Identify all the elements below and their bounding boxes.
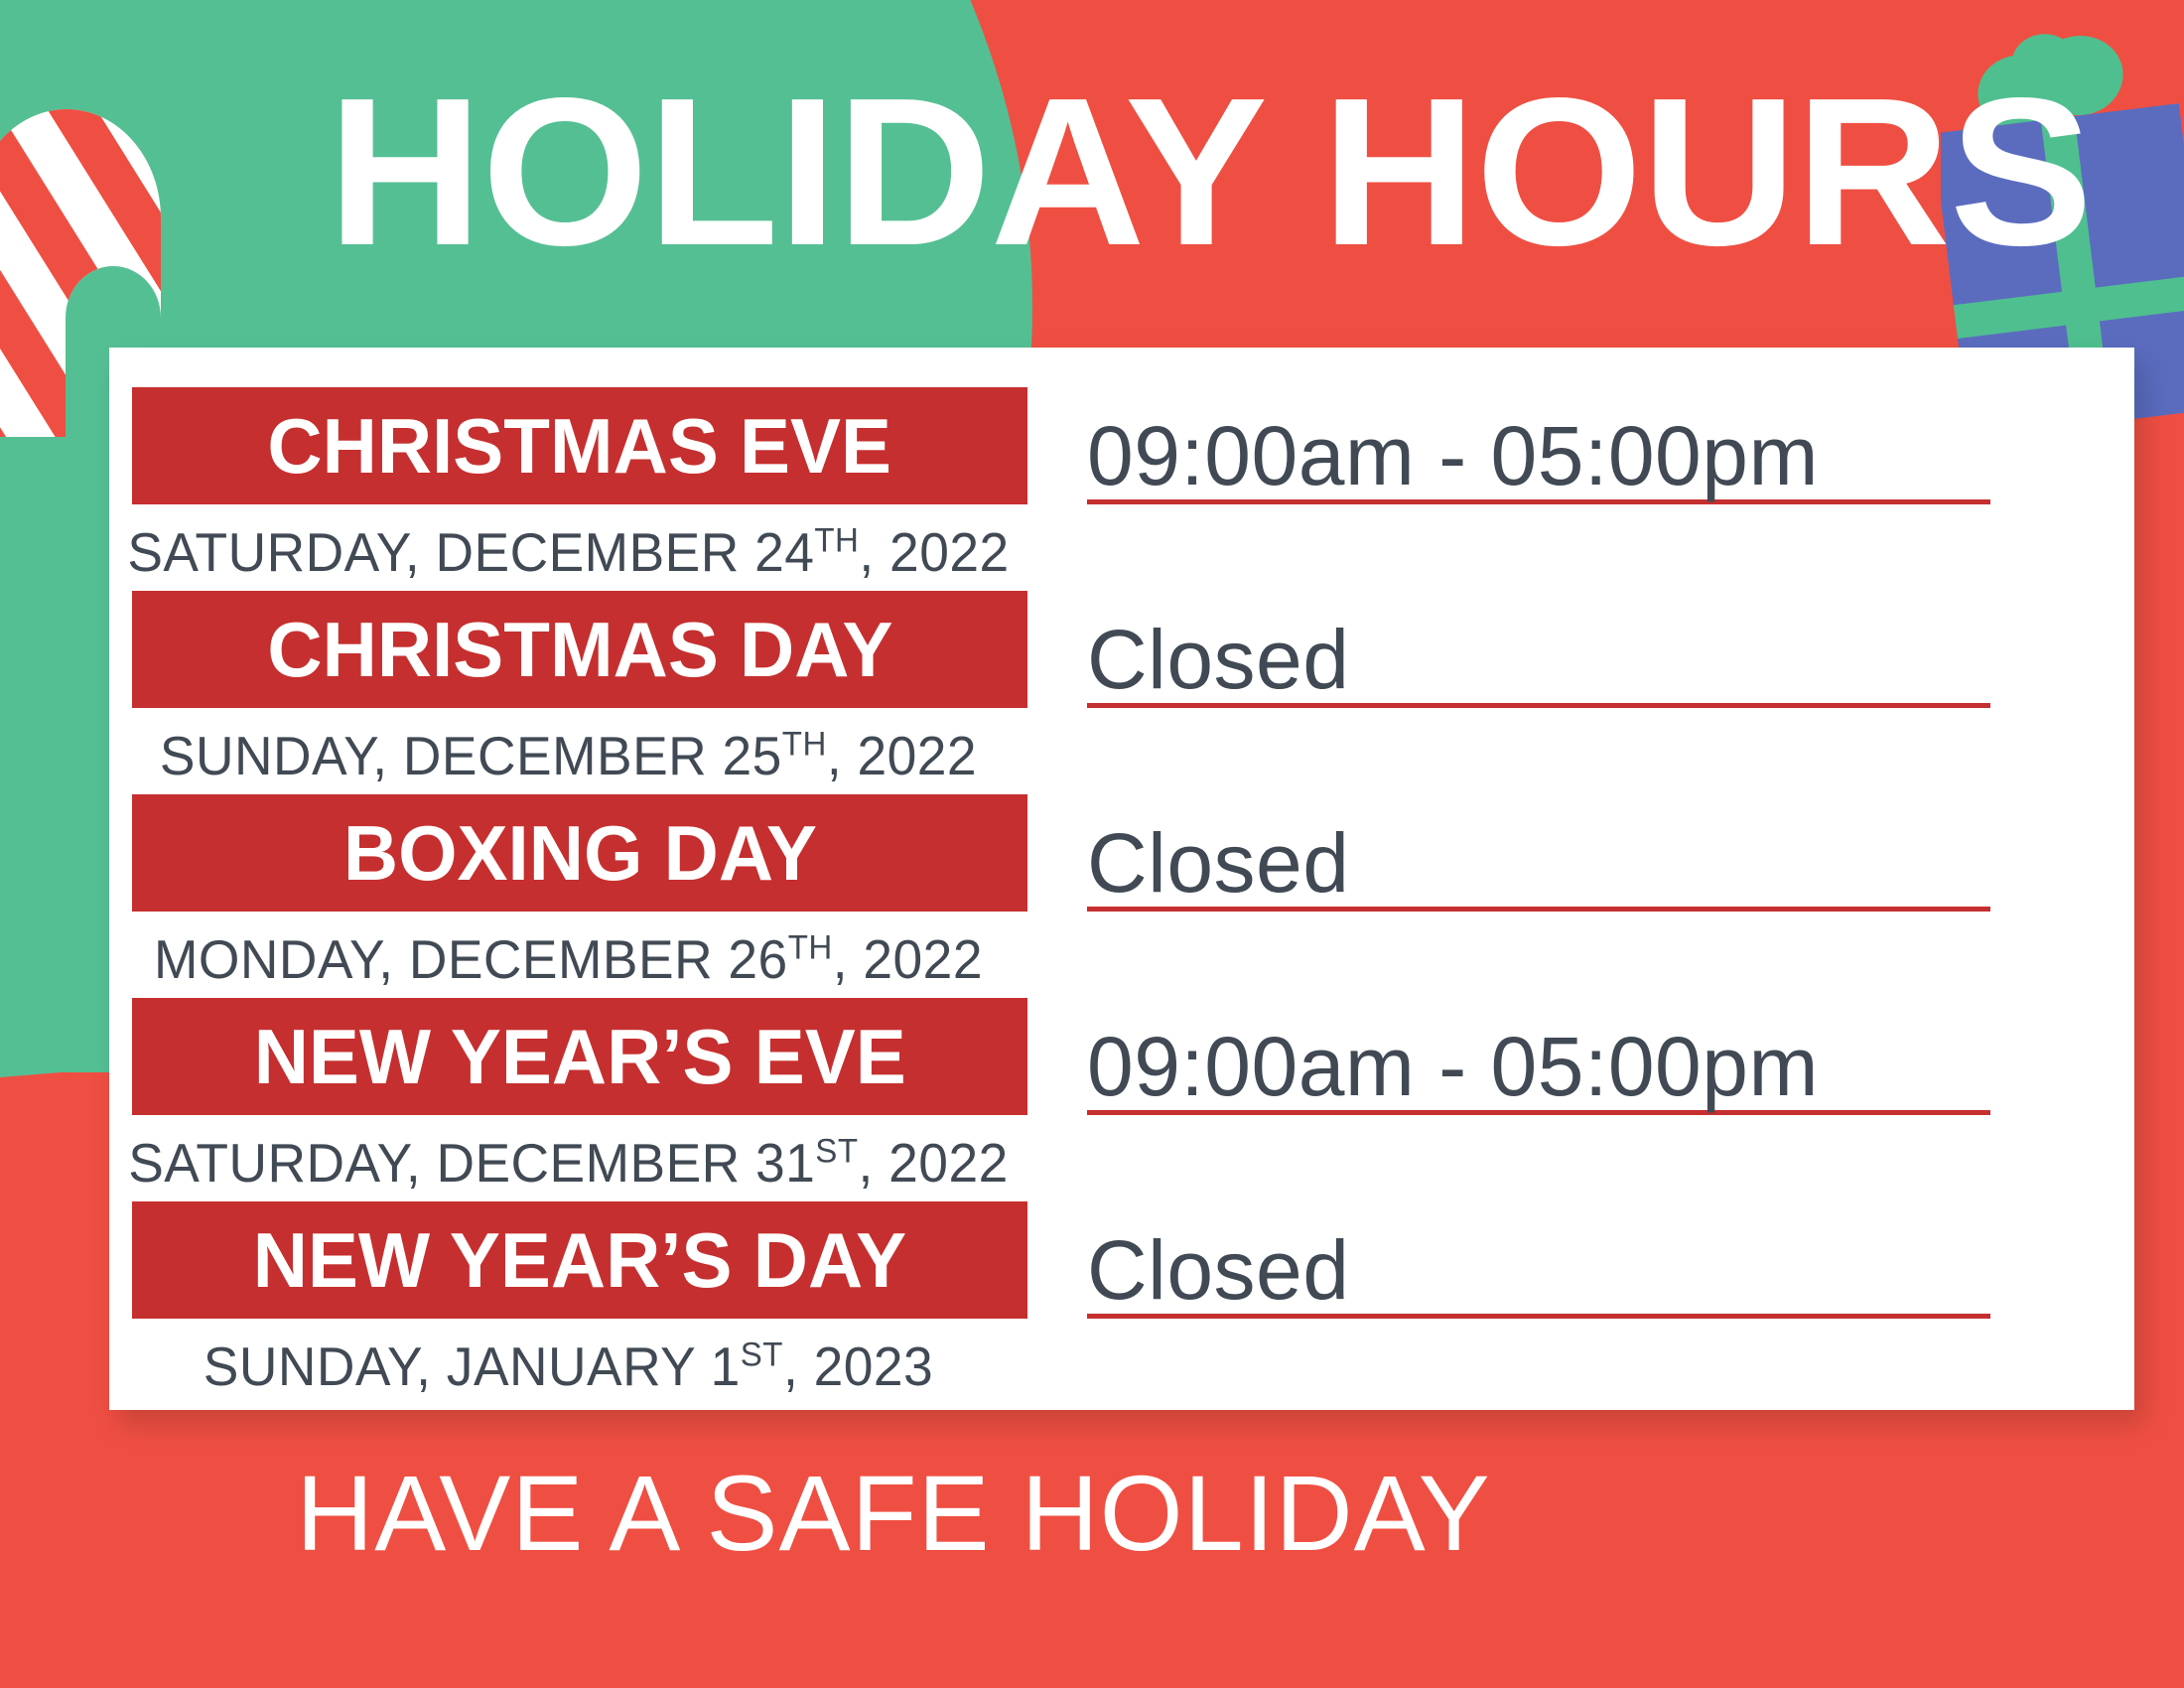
date-prefix: SATURDAY, DECEMBER 24 bbox=[127, 521, 814, 583]
holiday-name-chip: NEW YEAR’S EVE bbox=[132, 998, 1027, 1115]
date-suffix: , 2022 bbox=[859, 521, 1009, 583]
table-row: NEW YEAR’S EVE 09:00am - 05:00pm SATURDA… bbox=[109, 998, 2134, 1201]
hours-cell: Closed bbox=[1087, 1201, 1990, 1319]
date-suffix: , 2022 bbox=[827, 725, 977, 786]
date-suffix: , 2022 bbox=[859, 1132, 1009, 1194]
date-prefix: MONDAY, DECEMBER 26 bbox=[154, 928, 788, 990]
table-row: CHRISTMAS DAY Closed SUNDAY, DECEMBER 25… bbox=[109, 591, 2134, 794]
schedule-rows: CHRISTMAS EVE 09:00am - 05:00pm SATURDAY… bbox=[109, 387, 2134, 1415]
hours-cell: 09:00am - 05:00pm bbox=[1087, 387, 1990, 504]
date-prefix: SATURDAY, DECEMBER 31 bbox=[128, 1132, 815, 1194]
holiday-date: SATURDAY, DECEMBER 31ST, 2022 bbox=[123, 1131, 1014, 1195]
page-title: HOLIDAY HOURS bbox=[328, 71, 1988, 271]
date-ordinal: ST bbox=[815, 1133, 858, 1171]
holiday-date: SATURDAY, DECEMBER 24TH, 2022 bbox=[123, 520, 1014, 584]
holiday-date: SUNDAY, JANUARY 1ST, 2023 bbox=[123, 1335, 1014, 1398]
table-row: CHRISTMAS EVE 09:00am - 05:00pm SATURDAY… bbox=[109, 387, 2134, 591]
holiday-date: MONDAY, DECEMBER 26TH, 2022 bbox=[123, 927, 1014, 991]
hours-value: Closed bbox=[1087, 1228, 1349, 1312]
date-ordinal: ST bbox=[741, 1336, 783, 1374]
hours-cell: Closed bbox=[1087, 591, 1990, 708]
hours-value: 09:00am - 05:00pm bbox=[1087, 414, 1819, 497]
holiday-hours-poster: HOLIDAY HOURS CHRISTMAS EVE 09:00am - 05… bbox=[0, 0, 2184, 1688]
date-ordinal: TH bbox=[782, 726, 827, 764]
hours-cell: 09:00am - 05:00pm bbox=[1087, 998, 1990, 1115]
holiday-name-chip: BOXING DAY bbox=[132, 794, 1027, 912]
holiday-name-label: NEW YEAR’S EVE bbox=[254, 1018, 906, 1095]
holiday-name-chip: CHRISTMAS EVE bbox=[132, 387, 1027, 504]
table-row: NEW YEAR’S DAY Closed SUNDAY, JANUARY 1S… bbox=[109, 1201, 2134, 1415]
footer-message: HAVE A SAFE HOLIDAY bbox=[0, 1460, 1787, 1567]
schedule-card: CHRISTMAS EVE 09:00am - 05:00pm SATURDAY… bbox=[109, 348, 2134, 1410]
holiday-name-label: NEW YEAR’S DAY bbox=[253, 1221, 906, 1299]
date-prefix: SUNDAY, JANUARY 1 bbox=[204, 1336, 741, 1397]
holiday-name-chip: CHRISTMAS DAY bbox=[132, 591, 1027, 708]
date-prefix: SUNDAY, DECEMBER 25 bbox=[160, 725, 782, 786]
hours-cell: Closed bbox=[1087, 794, 1990, 912]
holiday-date: SUNDAY, DECEMBER 25TH, 2022 bbox=[123, 724, 1014, 787]
hours-value: 09:00am - 05:00pm bbox=[1087, 1025, 1819, 1108]
hours-value: Closed bbox=[1087, 821, 1349, 905]
date-ordinal: TH bbox=[788, 929, 833, 967]
date-suffix: , 2022 bbox=[833, 928, 983, 990]
holiday-name-label: BOXING DAY bbox=[342, 814, 816, 892]
table-row: BOXING DAY Closed MONDAY, DECEMBER 26TH,… bbox=[109, 794, 2134, 998]
holiday-name-chip: NEW YEAR’S DAY bbox=[132, 1201, 1027, 1319]
date-suffix: , 2023 bbox=[783, 1336, 933, 1397]
holiday-name-label: CHRISTMAS EVE bbox=[268, 407, 892, 485]
holiday-name-label: CHRISTMAS DAY bbox=[267, 611, 892, 688]
hours-value: Closed bbox=[1087, 618, 1349, 701]
date-ordinal: TH bbox=[814, 522, 859, 560]
